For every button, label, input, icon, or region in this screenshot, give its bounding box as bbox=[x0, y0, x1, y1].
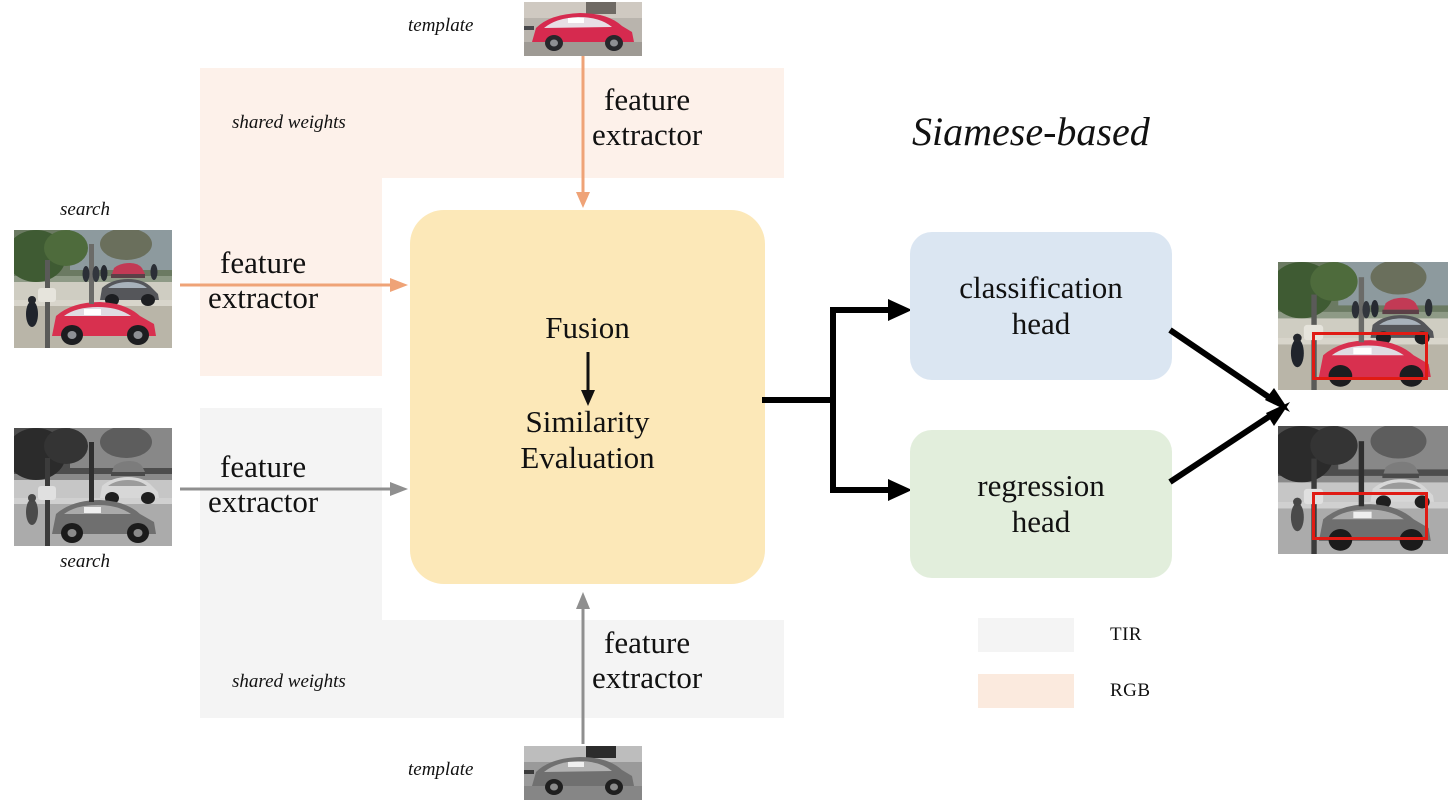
rgb-template-fe-line1: feature bbox=[592, 82, 702, 117]
rgb-search-thumbnail bbox=[14, 230, 172, 348]
regression-head-label: regression head bbox=[977, 468, 1104, 540]
rgb-template-feature-extractor-label: feature extractor bbox=[592, 82, 702, 153]
rgb-template-label: template bbox=[408, 16, 473, 37]
legend-item-rgb: RGB bbox=[978, 674, 1151, 708]
tir-template-feature-extractor-label: feature extractor bbox=[592, 625, 702, 696]
regression-head-line1: regression bbox=[977, 468, 1104, 504]
tir-output-thumbnail bbox=[1278, 426, 1448, 554]
regression-head-line2: head bbox=[977, 504, 1104, 540]
figure-canvas: template feature extractor shared weight… bbox=[0, 0, 1448, 802]
regression-head-box[interactable]: regression head bbox=[910, 430, 1172, 578]
rgb-template-fe-line2: extractor bbox=[592, 117, 702, 152]
rgb-search-feature-extractor-label: feature extractor bbox=[208, 245, 318, 316]
tir-template-label: template bbox=[408, 760, 473, 781]
legend-swatch-tir bbox=[978, 618, 1074, 652]
classification-head-box[interactable]: classification head bbox=[910, 232, 1172, 380]
tir-template-fe-line1: feature bbox=[592, 625, 702, 660]
rgb-shared-weights-label: shared weights bbox=[232, 113, 346, 134]
tir-shared-weights-label: shared weights bbox=[232, 672, 346, 693]
rgb-search-fe-line1: feature bbox=[208, 245, 318, 280]
legend-swatch-rgb bbox=[978, 674, 1074, 708]
tir-search-thumbnail bbox=[14, 428, 172, 546]
figure-title: Siamese-based bbox=[912, 108, 1150, 155]
fusion-internal-arrow bbox=[576, 352, 600, 408]
legend: TIR RGB bbox=[978, 618, 1151, 708]
tir-template-thumbnail bbox=[524, 746, 642, 800]
fusion-line1: Fusion bbox=[410, 310, 765, 346]
classification-head-line2: head bbox=[959, 306, 1123, 342]
tir-search-feature-extractor-label: feature extractor bbox=[208, 449, 318, 520]
tir-search-fe-line2: extractor bbox=[208, 484, 318, 519]
rgb-template-thumbnail bbox=[524, 2, 642, 56]
tir-search-fe-line1: feature bbox=[208, 449, 318, 484]
classification-head-line1: classification bbox=[959, 270, 1123, 306]
legend-label-tir: TIR bbox=[1110, 624, 1142, 646]
rgb-search-fe-line2: extractor bbox=[208, 280, 318, 315]
rgb-output-bounding-box bbox=[1312, 332, 1428, 380]
tir-template-arrow bbox=[570, 592, 596, 744]
tir-template-fe-line2: extractor bbox=[592, 660, 702, 695]
legend-item-tir: TIR bbox=[978, 618, 1151, 652]
similarity-evaluation-label: Similarity Evaluation bbox=[410, 404, 765, 476]
rgb-output-thumbnail bbox=[1278, 262, 1448, 390]
fusion-label: Fusion bbox=[410, 310, 765, 346]
fusion-line3: Evaluation bbox=[410, 440, 765, 476]
legend-label-rgb: RGB bbox=[1110, 680, 1151, 702]
tir-search-label: search bbox=[60, 552, 110, 573]
rgb-search-label: search bbox=[60, 200, 110, 221]
tir-output-bounding-box bbox=[1312, 492, 1428, 540]
fusion-line2: Similarity bbox=[410, 404, 765, 440]
classification-head-label: classification head bbox=[959, 270, 1123, 342]
fusion-to-heads-split-arrow bbox=[762, 290, 922, 510]
